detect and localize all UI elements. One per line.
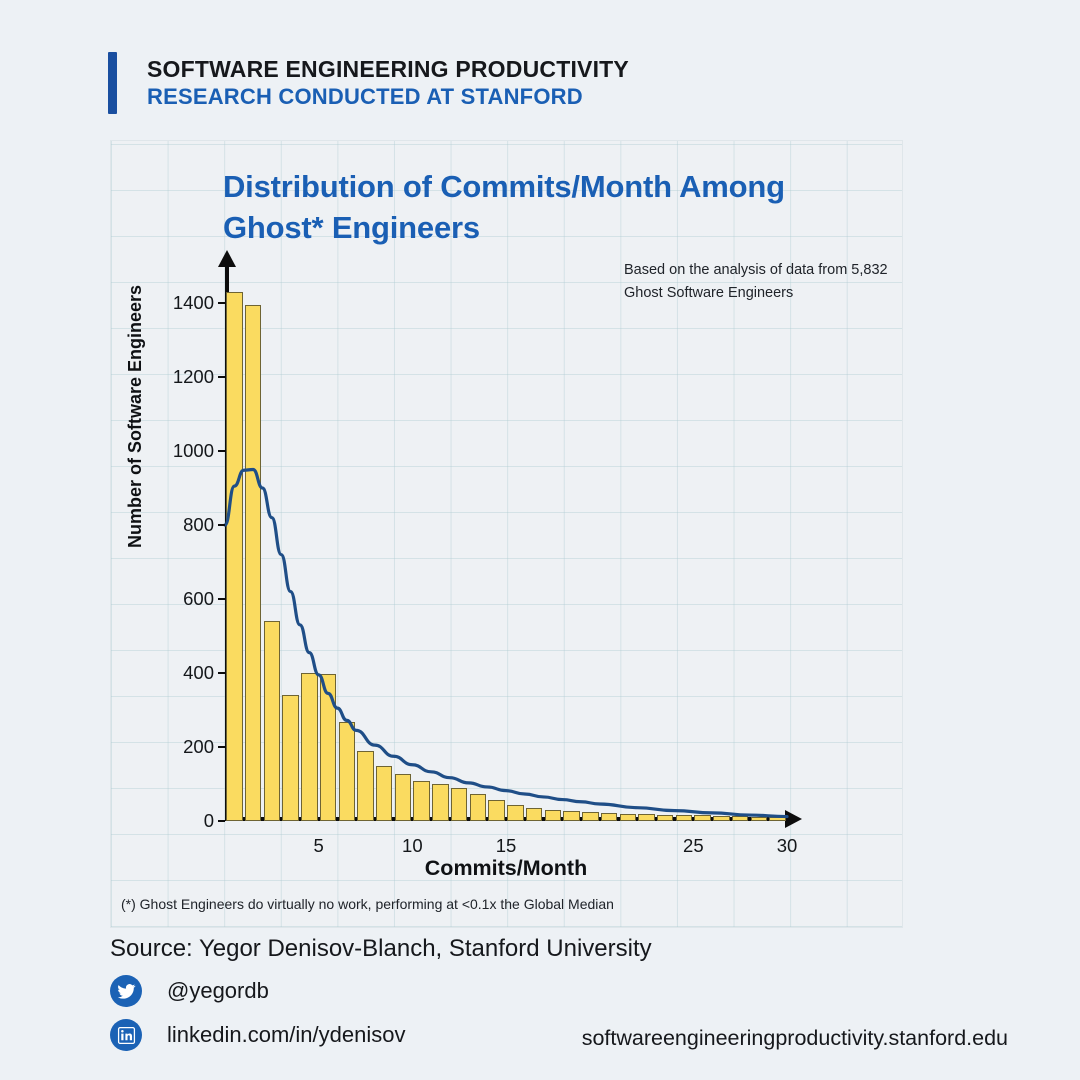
y-tick-label: 800 (183, 514, 214, 536)
chart-card: Distribution of Commits/Month Among Ghos… (110, 140, 903, 928)
y-tick-mark (218, 672, 225, 674)
header-title-secondary: RESEARCH CONDUCTED AT STANFORD (147, 84, 629, 110)
x-tick-label: 30 (777, 835, 798, 857)
y-tick-mark (218, 302, 225, 304)
y-tick-mark (218, 450, 225, 452)
linkedin-icon (110, 1019, 142, 1051)
x-tick-label: 25 (683, 835, 704, 857)
y-tick-label: 200 (183, 736, 214, 758)
x-axis-title: Commits/Month (225, 856, 787, 881)
plot-area: 0200400600800100012001400 510152530 (225, 266, 785, 821)
linkedin-link[interactable]: linkedin.com/in/ydenisov (110, 1019, 405, 1051)
y-tick-label: 1200 (173, 366, 214, 388)
source-credit: Source: Yegor Denisov-Blanch, Stanford U… (110, 935, 652, 963)
y-tick-label: 0 (204, 810, 214, 832)
y-tick-mark (218, 746, 225, 748)
chart-title: Distribution of Commits/Month Among Ghos… (223, 167, 883, 249)
x-tick-label: 15 (496, 835, 517, 857)
x-tick-label: 10 (402, 835, 423, 857)
y-tick-mark (218, 820, 225, 822)
linkedin-url: linkedin.com/in/ydenisov (167, 1022, 405, 1048)
chart-footnote: (*) Ghost Engineers do virtually no work… (121, 896, 891, 912)
x-axis-arrow-icon (785, 810, 802, 828)
x-tick-label: 5 (314, 835, 324, 857)
y-tick-label: 400 (183, 662, 214, 684)
y-tick-label: 600 (183, 588, 214, 610)
y-axis-arrow-icon (218, 250, 236, 267)
y-axis-title: Number of Software Engineers (125, 285, 146, 548)
header-text-group: SOFTWARE ENGINEERING PRODUCTIVITY RESEAR… (147, 52, 629, 114)
twitter-handle: @yegordb (167, 978, 269, 1004)
y-tick-mark (218, 524, 225, 526)
header-title-primary: SOFTWARE ENGINEERING PRODUCTIVITY (147, 56, 629, 83)
page-header: SOFTWARE ENGINEERING PRODUCTIVITY RESEAR… (108, 52, 968, 114)
y-tick-mark (218, 598, 225, 600)
y-tick-label: 1400 (173, 292, 214, 314)
y-tick-mark (218, 376, 225, 378)
twitter-icon (110, 975, 142, 1007)
accent-bar (108, 52, 117, 114)
y-tick-label: 1000 (173, 440, 214, 462)
twitter-link[interactable]: @yegordb (110, 975, 269, 1007)
website-url: softwareengineeringproductivity.stanford… (582, 1026, 1008, 1051)
fitted-curve (225, 266, 787, 821)
